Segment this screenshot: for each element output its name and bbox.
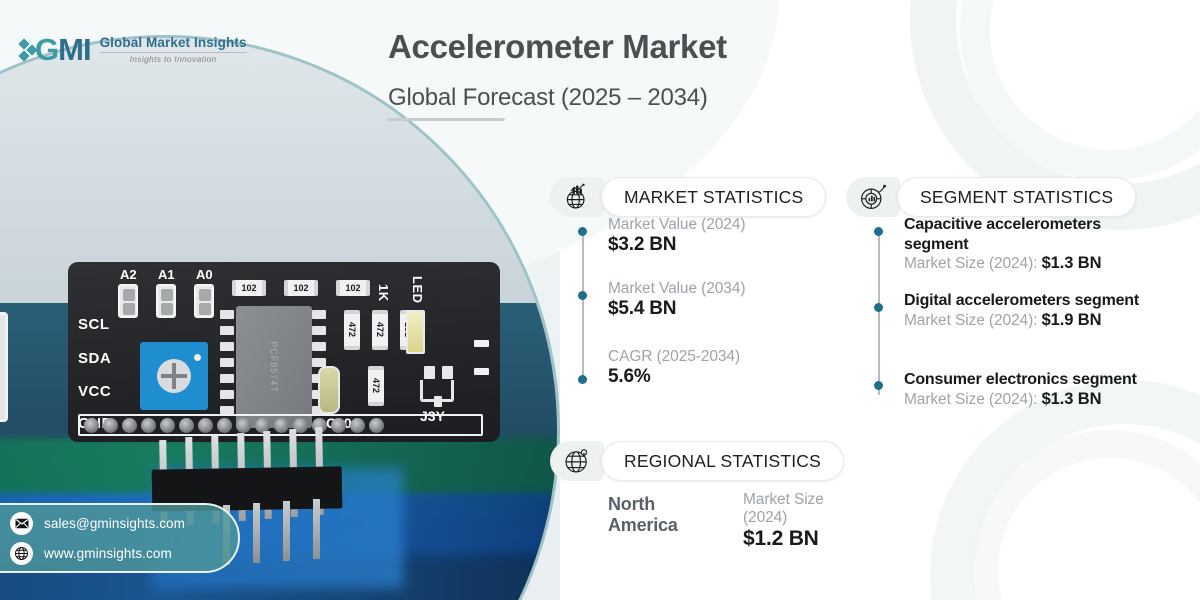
pcb-resistor-102-c: 102	[336, 280, 370, 296]
globe-chart-icon	[550, 177, 604, 217]
segment-item-0-title: Capacitive accelerometers segment	[904, 215, 1164, 254]
segment-item-2-sublabel: Market Size (2024):	[904, 391, 1042, 408]
logo-mark-icon: GMI	[20, 34, 91, 65]
regional-label: Market Size (2024)	[743, 491, 844, 527]
segment-timeline: Capacitive accelerometers segment Market…	[878, 225, 1188, 400]
pcb-resistor-472-c: 472	[368, 366, 384, 406]
logo-company-name: Global Market Insights	[100, 35, 247, 50]
infographic-poster: A2 A1 A0 SCL SDA VCC GND 102 102 102 1K …	[0, 0, 1200, 600]
market-item-0-label: Market Value (2024)	[608, 216, 745, 234]
market-timeline: Market Value (2024) $3.2 BN Market Value…	[582, 225, 842, 385]
logo-tagline: Insights to Innovation	[130, 54, 217, 64]
segment-item-0-sublabel: Market Size (2024):	[904, 255, 1042, 272]
pcb-board: A2 A1 A0 SCL SDA VCC GND 102 102 102 1K …	[68, 262, 500, 442]
gmi-logo[interactable]: GMI Global Market Insights Insights to I…	[20, 34, 247, 65]
segment-statistics-heading: SEGMENT STATISTICS	[920, 187, 1113, 208]
regional-region-line2: America	[608, 515, 678, 536]
section-segment-statistics: SEGMENT STATISTICS Capacitive accelerome…	[846, 177, 1136, 217]
segment-item-0-sub: Market Size (2024): $1.3 BN	[904, 254, 1164, 273]
contact-website: www.gminsights.com	[44, 546, 172, 561]
market-statistics-heading-pill: MARKET STATISTICS	[601, 177, 826, 217]
market-item-2-label: CAGR (2025-2034)	[608, 348, 740, 366]
regional-market-size: Market Size (2024) $1.2 BN	[743, 491, 844, 551]
market-item-0: Market Value (2024) $3.2 BN	[608, 216, 745, 256]
logo-letter-g: G	[35, 32, 58, 67]
globe-pin-icon	[550, 441, 604, 481]
regional-region-line1: North	[608, 494, 678, 515]
regional-statistics-heading-pill: REGIONAL STATISTICS	[601, 441, 844, 481]
market-item-2-value: 5.6%	[608, 366, 740, 388]
segment-item-2-subvalue: $1.3 BN	[1042, 390, 1102, 408]
pcb-label-sda: SDA	[78, 350, 111, 367]
segment-item-1-sub: Market Size (2024): $1.9 BN	[904, 311, 1164, 330]
market-item-1-value: $5.4 BN	[608, 298, 745, 320]
pcb-side-connector	[0, 312, 8, 422]
pcb-potentiometer	[140, 342, 208, 410]
pcb-label-led: LED	[410, 276, 425, 304]
segment-item-1: Digital accelerometers segment Market Si…	[904, 291, 1164, 330]
logo-diamond-icon	[20, 36, 34, 64]
globe-icon	[10, 542, 33, 565]
pcb-label-a1: A1	[158, 267, 175, 282]
segment-item-2-title: Consumer electronics segment	[904, 370, 1194, 390]
pcb-chip-label: PCF8574T	[269, 341, 279, 393]
pcb-resistor-472-a: 472	[344, 310, 360, 350]
contact-email: sales@gminsights.com	[44, 516, 185, 531]
envelope-icon	[10, 512, 33, 535]
page-title: Accelerometer Market	[388, 28, 727, 66]
segment-item-1-title: Digital accelerometers segment	[904, 291, 1164, 311]
pcb-chip-pcf8574t: PCF8574T	[236, 306, 312, 428]
pcb-led	[406, 310, 425, 354]
pcb-label-a2: A2	[120, 267, 137, 282]
section-regional-statistics: REGIONAL STATISTICS North America Market…	[550, 441, 844, 481]
page-subtitle: Global Forecast (2025 – 2034)	[388, 84, 708, 112]
pcb-pin-header-strip	[78, 414, 483, 436]
logo-letter-m: M	[58, 32, 83, 67]
pcb-label-scl: SCL	[78, 316, 110, 333]
contact-website-row[interactable]: www.gminsights.com	[10, 542, 238, 565]
regional-region-name: North America	[608, 494, 678, 535]
segment-item-2-sub: Market Size (2024): $1.3 BN	[904, 390, 1194, 409]
market-item-1-label: Market Value (2034)	[608, 280, 745, 298]
pcb-label-vcc: VCC	[78, 383, 111, 400]
regional-statistics-heading: REGIONAL STATISTICS	[624, 451, 821, 472]
segment-item-0-subvalue: $1.3 BN	[1042, 254, 1102, 272]
market-item-2: CAGR (2025-2034) 5.6%	[608, 348, 740, 388]
pcb-label-1k: 1K	[376, 284, 391, 302]
regional-value: $1.2 BN	[743, 527, 844, 551]
segment-statistics-heading-pill: SEGMENT STATISTICS	[897, 177, 1136, 217]
market-statistics-heading: MARKET STATISTICS	[624, 187, 803, 208]
segment-item-1-subvalue: $1.9 BN	[1042, 311, 1102, 329]
logo-letter-i: I	[83, 32, 91, 67]
section-market-statistics: MARKET STATISTICS Market Value (2024) $3…	[550, 177, 826, 217]
pie-chart-target-icon	[846, 177, 900, 217]
title-divider	[387, 118, 505, 121]
segment-item-1-sublabel: Market Size (2024):	[904, 312, 1042, 329]
contact-strip: sales@gminsights.com www.gminsights.com	[0, 503, 240, 573]
pcb-resistor-472-b: 472	[372, 310, 388, 350]
logo-divider	[100, 52, 247, 53]
pcb-resistor-102-b: 102	[284, 280, 318, 296]
market-item-1: Market Value (2034) $5.4 BN	[608, 280, 745, 320]
segment-item-2: Consumer electronics segment Market Size…	[904, 370, 1194, 409]
segment-item-0: Capacitive accelerometers segment Market…	[904, 215, 1164, 273]
pcb-resistor-102-a: 102	[232, 280, 266, 296]
pcb-capacitor	[318, 366, 340, 414]
contact-email-row[interactable]: sales@gminsights.com	[10, 512, 238, 535]
pcb-label-a0: A0	[196, 267, 213, 282]
market-item-0-value: $3.2 BN	[608, 234, 745, 256]
